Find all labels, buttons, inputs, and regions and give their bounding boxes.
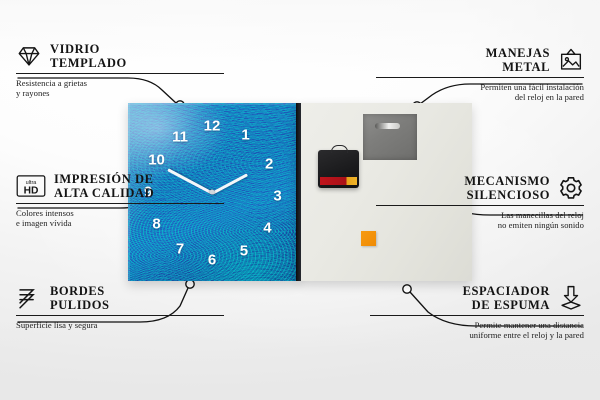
clock-numeral-3: 3 xyxy=(273,188,281,203)
feature-head: MECANISMO SILENCIOSO xyxy=(376,174,584,202)
feature-subtitle: Permite mantener una distancia uniforme … xyxy=(370,320,584,341)
feature-title: ESPACIADOR DE ESPUMA xyxy=(463,284,550,312)
metal-hanger-plate xyxy=(363,114,417,160)
feature-bordes-pulidos: BORDES PULIDOS Superficie lisa y segura xyxy=(16,284,224,330)
picture-frame-hanger-icon xyxy=(558,47,584,73)
clock-numeral-11: 11 xyxy=(172,129,188,144)
feature-divider xyxy=(16,73,224,74)
clock-numeral-12: 12 xyxy=(204,119,221,134)
feature-title: IMPRESIÓN DE ALTA CALIDAD xyxy=(54,172,154,200)
mechanism-hook xyxy=(331,145,348,153)
infographic-canvas: 12 1 2 3 4 5 6 7 8 9 10 11 xyxy=(0,0,600,400)
feature-head: VIDRIO TEMPLADO xyxy=(16,42,224,70)
clock-numeral-6: 6 xyxy=(208,252,216,267)
foam-spacer-arrow-icon xyxy=(558,285,584,311)
feature-mecanismo-silencioso: MECANISMO SILENCIOSO Las manecillas del … xyxy=(376,174,584,230)
diamond-icon xyxy=(16,43,42,69)
ultra-hd-icon-main: HD xyxy=(24,185,39,196)
ultra-hd-icon: ultra HD xyxy=(16,175,46,197)
feature-head: ultra HD IMPRESIÓN DE ALTA CALIDAD xyxy=(16,172,224,200)
feature-espaciador-espuma: ESPACIADOR DE ESPUMA Permite mantener un… xyxy=(370,284,584,340)
clock-numeral-1: 1 xyxy=(241,128,249,143)
clock-numeral-4: 4 xyxy=(263,220,271,235)
clock-numeral-7: 7 xyxy=(176,241,184,256)
hanger-slot xyxy=(375,123,400,129)
feature-head: MANEJAS METAL xyxy=(376,46,584,74)
feature-divider xyxy=(16,203,224,204)
feature-title: BORDES PULIDOS xyxy=(50,284,110,312)
feature-head: ESPACIADOR DE ESPUMA xyxy=(370,284,584,312)
silent-quartz-mechanism xyxy=(318,150,359,188)
feature-divider xyxy=(370,315,584,316)
feature-title: MANEJAS METAL xyxy=(486,46,550,74)
feature-vidrio-templado: VIDRIO TEMPLADO Resistencia a grietas y … xyxy=(16,42,224,98)
gear-icon xyxy=(558,175,584,201)
feature-divider xyxy=(376,77,584,78)
clock-numeral-5: 5 xyxy=(240,243,248,258)
clock-numeral-10: 10 xyxy=(148,152,165,167)
orange-foam-spacer xyxy=(361,231,376,246)
feature-manejas-metal: MANEJAS METAL Permiten una fácil instala… xyxy=(376,46,584,102)
feature-divider xyxy=(16,315,224,316)
feature-subtitle: Permiten una fácil instalación del reloj… xyxy=(376,82,584,103)
feature-impresion-alta-calidad: ultra HD IMPRESIÓN DE ALTA CALIDAD Color… xyxy=(16,172,224,228)
feature-subtitle: Las manecillas del reloj no emiten ningú… xyxy=(376,210,584,231)
feature-subtitle: Colores intensos e imagen vívida xyxy=(16,208,224,229)
polished-edges-icon xyxy=(16,285,42,311)
clock-numeral-2: 2 xyxy=(265,156,273,171)
feature-subtitle: Resistencia a grietas y rayones xyxy=(16,78,224,99)
feature-title: VIDRIO TEMPLADO xyxy=(50,42,127,70)
feature-head: BORDES PULIDOS xyxy=(16,284,224,312)
feature-subtitle: Superficie lisa y segura xyxy=(16,320,224,330)
mechanism-battery-label xyxy=(320,177,357,185)
feature-title: MECANISMO SILENCIOSO xyxy=(464,174,550,202)
feature-divider xyxy=(376,205,584,206)
